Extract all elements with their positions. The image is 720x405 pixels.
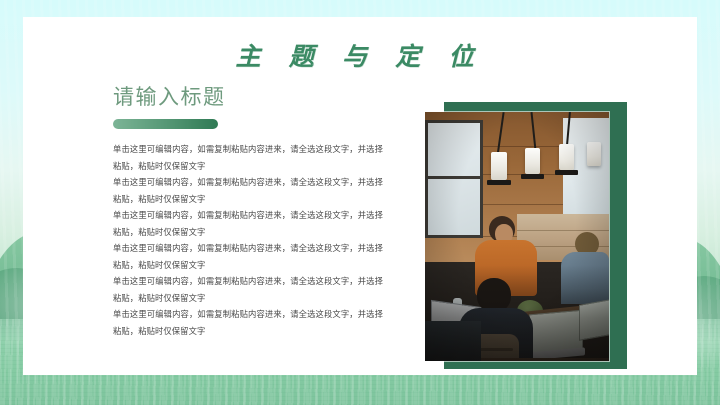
photo-composition bbox=[401, 85, 633, 375]
slide-canvas: 主 题 与 定 位 请输入标题 单击这里可编辑内容，如需复制粘贴内容进来，请全选… bbox=[0, 0, 720, 405]
text-column: 请输入标题 单击这里可编辑内容，如需复制粘贴内容进来，请全选这段文字，并选择粘贴… bbox=[113, 85, 383, 340]
photo-vignette bbox=[425, 112, 609, 361]
body-paragraph: 单击这里可编辑内容，如需复制粘贴内容进来，请全选这段文字，并选择粘贴，粘贴时仅保… bbox=[113, 208, 383, 241]
accent-bar bbox=[113, 119, 218, 129]
body-text-block: 单击这里可编辑内容，如需复制粘贴内容进来，请全选这段文字，并选择粘贴，粘贴时仅保… bbox=[113, 142, 383, 340]
body-paragraph: 单击这里可编辑内容，如需复制粘贴内容进来，请全选这段文字，并选择粘贴，粘贴时仅保… bbox=[113, 175, 383, 208]
body-paragraph: 单击这里可编辑内容，如需复制粘贴内容进来，请全选这段文字，并选择粘贴，粘贴时仅保… bbox=[113, 142, 383, 175]
page-title: 主 题 与 定 位 bbox=[23, 37, 697, 73]
section-subtitle: 请输入标题 bbox=[113, 85, 383, 110]
body-paragraph: 单击这里可编辑内容，如需复制粘贴内容进来，请全选这段文字，并选择粘贴，粘贴时仅保… bbox=[113, 241, 383, 274]
body-paragraph: 单击这里可编辑内容，如需复制粘贴内容进来，请全选这段文字，并选择粘贴，粘贴时仅保… bbox=[113, 274, 383, 307]
content-card: 主 题 与 定 位 请输入标题 单击这里可编辑内容，如需复制粘贴内容进来，请全选… bbox=[23, 17, 697, 375]
team-photo bbox=[425, 112, 609, 361]
body-paragraph: 单击这里可编辑内容，如需复制粘贴内容进来，请全选这段文字，并选择粘贴，粘贴时仅保… bbox=[113, 307, 383, 340]
